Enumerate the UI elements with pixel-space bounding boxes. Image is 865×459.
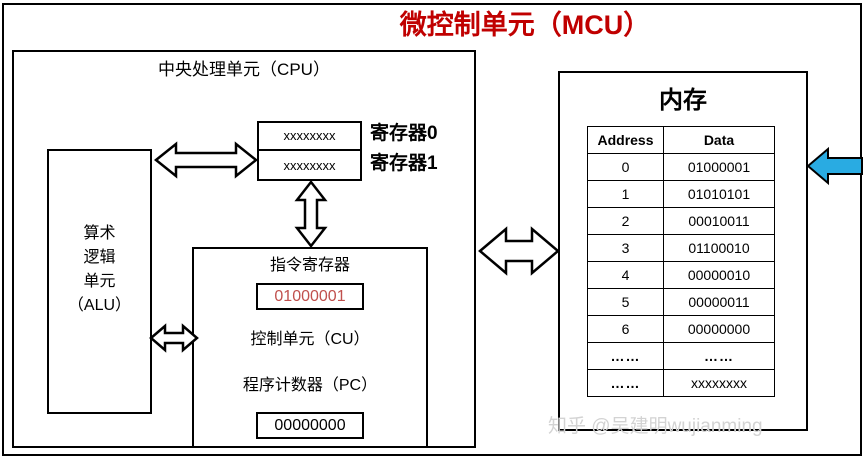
memory-data-cell: 01000001	[664, 154, 775, 181]
register-control-unit-arrow-icon	[292, 179, 330, 249]
program-counter-label: 程序计数器（PC）	[192, 374, 428, 398]
alu-label-line3: 单元	[47, 270, 152, 294]
register-0-label: 寄存器0	[370, 120, 490, 147]
table-row: 0 01000001	[588, 154, 775, 181]
memory-address-cell: 0	[588, 154, 664, 181]
memory-data-cell: 00000011	[664, 289, 775, 316]
memory-address-cell: 6	[588, 316, 664, 343]
memory-address-cell: 4	[588, 262, 664, 289]
cpu-title: 中央处理单元（CPU）	[12, 57, 476, 83]
memory-table-header-row: Address Data	[588, 127, 775, 154]
memory-address-cell: 5	[588, 289, 664, 316]
register-0-value: xxxxxxxx	[257, 121, 362, 151]
instruction-register-label: 指令寄存器	[192, 254, 428, 278]
cpu-memory-arrow-icon	[476, 220, 562, 282]
memory-table: Address Data 0 01000001 1 01010101 2 000…	[587, 126, 775, 397]
memory-address-cell: 2	[588, 208, 664, 235]
table-row: …… xxxxxxxx	[588, 370, 775, 397]
memory-pointer-arrow-icon	[806, 145, 864, 187]
memory-data-cell: ……	[664, 343, 775, 370]
table-row: 3 01100010	[588, 235, 775, 262]
watermark: 知乎 @吴建明wujianming	[548, 414, 858, 440]
memory-address-cell: 3	[588, 235, 664, 262]
alu-label: 算术 逻辑 单元 （ALU）	[47, 222, 152, 342]
diagram-canvas: 微控制单元（MCU） 中央处理单元（CPU） 算术 逻辑 单元 （ALU） xx…	[0, 0, 865, 459]
page-title: 微控制单元（MCU）	[395, 7, 655, 43]
memory-column-address: Address	[588, 127, 664, 154]
memory-data-cell: 00000000	[664, 316, 775, 343]
alu-register-arrow-icon	[152, 137, 260, 183]
register-1-label: 寄存器1	[370, 150, 490, 177]
instruction-register-value: 01000001	[256, 283, 364, 310]
memory-address-cell: ……	[588, 343, 664, 370]
memory-data-cell: 01100010	[664, 235, 775, 262]
memory-data-cell: xxxxxxxx	[664, 370, 775, 397]
memory-data-cell: 00000010	[664, 262, 775, 289]
table-row: 1 01010101	[588, 181, 775, 208]
memory-column-data: Data	[664, 127, 775, 154]
alu-label-line4: （ALU）	[47, 294, 152, 318]
alu-label-line2: 逻辑	[47, 246, 152, 270]
table-row: 6 00000000	[588, 316, 775, 343]
table-row: 5 00000011	[588, 289, 775, 316]
control-unit-label: 控制单元（CU）	[192, 328, 428, 352]
memory-address-cell: 1	[588, 181, 664, 208]
memory-address-cell: ……	[588, 370, 664, 397]
memory-data-cell: 01010101	[664, 181, 775, 208]
table-row: 4 00000010	[588, 262, 775, 289]
memory-title: 内存	[558, 84, 808, 118]
memory-data-cell: 00010011	[664, 208, 775, 235]
program-counter-value: 00000000	[256, 412, 364, 439]
table-row: …… ……	[588, 343, 775, 370]
register-1-value: xxxxxxxx	[257, 151, 362, 181]
alu-label-line1: 算术	[47, 222, 152, 246]
table-row: 2 00010011	[588, 208, 775, 235]
alu-control-unit-arrow-icon	[148, 317, 200, 359]
